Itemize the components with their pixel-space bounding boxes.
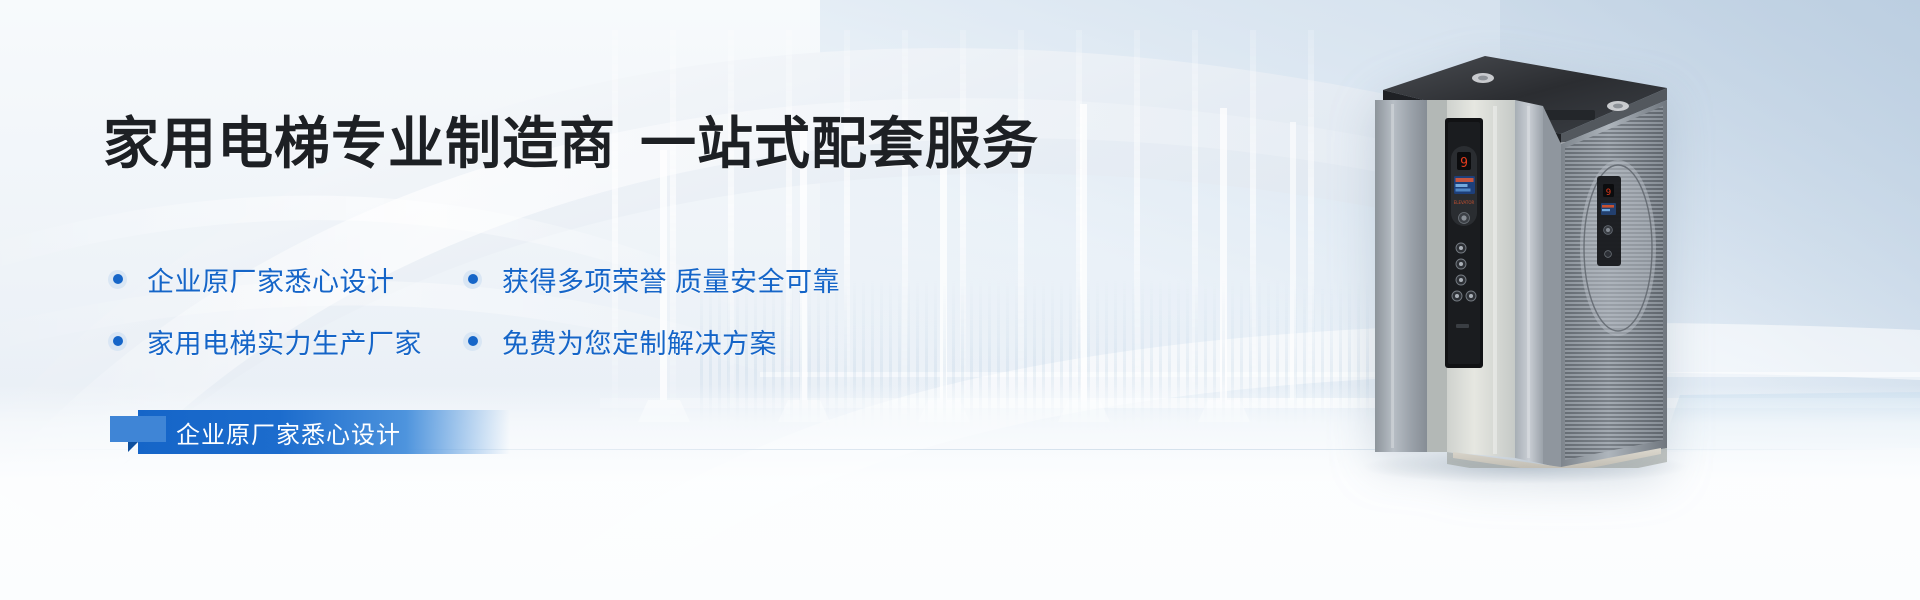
feature-label: 获得多项荣誉 质量安全可靠 <box>502 260 840 299</box>
steel-highlight-1 <box>1391 104 1394 448</box>
ceiling-vent <box>1543 110 1595 120</box>
hero-banner: 9 ELEVATOR <box>0 0 1920 600</box>
list-item: 获得多项荣誉 质量安全可靠 <box>463 260 933 299</box>
headline-part-1: 家用电梯专业制造商 <box>103 112 616 175</box>
ribbon-label: 企业原厂家悉心设计 <box>176 410 401 454</box>
ribbon-tag: 企业原厂家悉心设计 <box>110 410 510 454</box>
steel-highlight-3 <box>1527 106 1530 458</box>
floor-indicator-value: 9 <box>1460 156 1468 171</box>
home-elevator-cabin: 9 ELEVATOR <box>1375 48 1675 468</box>
bullet-dot-icon <box>108 270 127 289</box>
banner-content: 家用电梯专业制造商一站式配套服务 企业原厂家悉心设计 获得多项荣誉 质量安全可靠… <box>0 0 1100 600</box>
feature-row-1: 企业原厂家悉心设计 获得多项荣誉 质量安全可靠 <box>108 248 968 310</box>
list-item: 免费为您定制解决方案 <box>463 322 933 361</box>
wall-trim-left <box>1427 100 1447 452</box>
feature-label: 免费为您定制解决方案 <box>502 322 777 361</box>
cabin-wall-left <box>1375 100 1427 452</box>
bullet-dot-icon <box>463 332 482 351</box>
steel-highlight-2 <box>1493 106 1497 454</box>
page-title: 家用电梯专业制造商一站式配套服务 <box>103 116 1039 172</box>
bullet-dot-icon <box>108 332 127 351</box>
panel-badge <box>1456 324 1469 328</box>
elevator-svg: 9 ELEVATOR <box>1375 48 1675 468</box>
mirrored-floor-value: 9 <box>1606 188 1611 198</box>
feature-list: 企业原厂家悉心设计 获得多项荣誉 质量安全可靠 家用电梯实力生产厂家 免费为您定… <box>108 248 968 372</box>
feature-label: 家用电梯实力生产厂家 <box>147 322 422 361</box>
cabin-corner-edge <box>1543 106 1561 468</box>
ribbon-flag-icon <box>110 416 166 442</box>
list-item: 家用电梯实力生产厂家 <box>108 322 463 361</box>
ribbon-fold-icon <box>128 442 138 452</box>
headline-part-2: 一站式配套服务 <box>640 112 1039 175</box>
list-item: 企业原厂家悉心设计 <box>108 260 463 299</box>
feature-label: 企业原厂家悉心设计 <box>147 260 395 299</box>
bullet-dot-icon <box>463 270 482 289</box>
panel-brand-text: ELEVATOR <box>1454 200 1475 205</box>
feature-row-2: 家用电梯实力生产厂家 免费为您定制解决方案 <box>108 310 968 372</box>
